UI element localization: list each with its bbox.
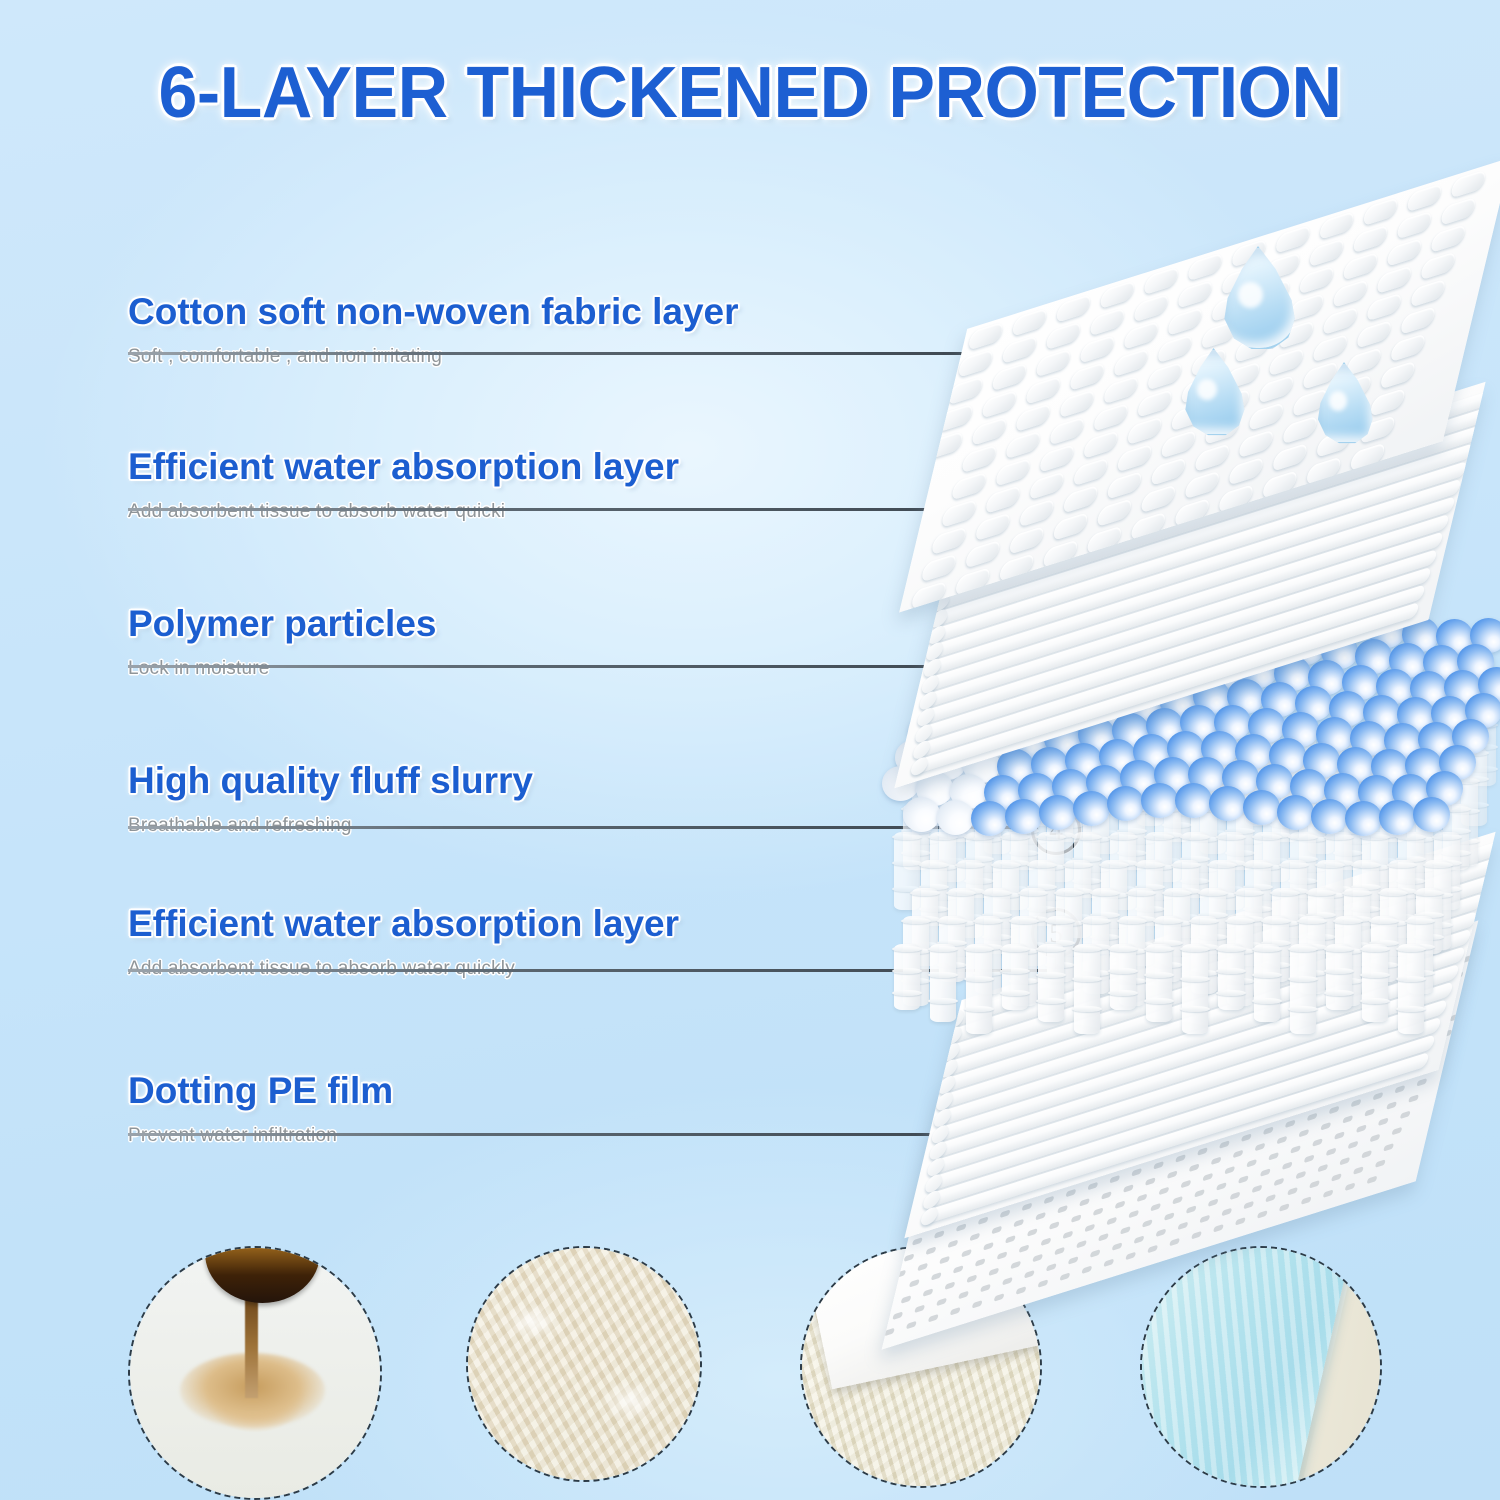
polymer-bead — [1141, 783, 1178, 818]
fluff-segment — [1288, 1006, 1318, 1012]
pe-film-dot — [1134, 1235, 1145, 1244]
polymer-bead — [903, 797, 940, 832]
pe-film-dot — [925, 1246, 936, 1255]
fluff-segment — [1252, 998, 1282, 1004]
infographic-page: 6-LAYER THICKENED PROTECTION Cotton soft… — [0, 0, 1500, 1500]
dimple — [1430, 224, 1467, 254]
pe-film-dot — [1383, 1143, 1394, 1152]
dimple — [1281, 415, 1318, 445]
layer-row-3: Polymer particles Lock in moisture — [128, 605, 436, 680]
fluff-segment — [901, 918, 931, 924]
dimple — [1238, 429, 1275, 459]
pe-film-dot — [1295, 1171, 1306, 1180]
pe-film-dot — [1016, 1286, 1027, 1295]
pe-film-dot — [1268, 1152, 1279, 1161]
pe-film-dot — [1197, 1147, 1208, 1156]
dimple — [1001, 335, 1038, 365]
polymer-bead — [1039, 795, 1076, 830]
pe-film-dot — [1142, 1219, 1153, 1228]
pe-film-dot — [1076, 1240, 1087, 1249]
pe-film-dot — [1103, 1259, 1114, 1268]
fluff-segment — [1180, 946, 1210, 952]
fluff-column — [1146, 944, 1172, 1022]
fluff-segment — [1144, 946, 1174, 952]
pe-film-dot — [1153, 1161, 1164, 1170]
pe-film-dot — [1002, 1277, 1013, 1286]
dimple — [957, 349, 994, 379]
pe-film-dot — [969, 1233, 980, 1242]
pe-film-dot — [953, 1265, 964, 1274]
pe-film-dot — [1208, 1198, 1219, 1207]
pe-film-dot — [944, 1281, 955, 1290]
pe-film-dot — [1084, 1224, 1095, 1233]
pe-film-dot — [1186, 1205, 1197, 1214]
pe-film-dot — [958, 1291, 969, 1300]
fluff-segment — [1117, 918, 1147, 924]
dimple — [927, 431, 964, 461]
dimple — [1352, 224, 1389, 254]
pe-film-dot — [956, 1223, 967, 1232]
dimple — [941, 499, 978, 529]
pe-film-dot — [1285, 1119, 1296, 1128]
dimple — [1150, 457, 1187, 487]
fluff-segment — [928, 946, 958, 952]
pe-film-dot — [1013, 1219, 1024, 1228]
polymer-bead — [1243, 790, 1280, 825]
layer-caption-2: Add absorbent tissue to absorb water qui… — [128, 501, 679, 523]
pe-film-dot — [1309, 1180, 1320, 1189]
dimple — [1379, 360, 1416, 390]
liquid-stream — [245, 1293, 258, 1398]
pe-film-dot — [1370, 1134, 1381, 1143]
dimple — [1106, 471, 1143, 501]
fluff-segment — [928, 972, 958, 978]
pe-film-dot — [1213, 1224, 1224, 1233]
pe-film-dot — [1040, 1237, 1051, 1246]
dimple — [1406, 183, 1443, 213]
pe-film-dot — [1054, 1247, 1065, 1256]
layer-heading-2: Efficient water absorption layer — [128, 448, 679, 487]
fluff-segment — [1333, 918, 1363, 924]
pe-film-dot — [1400, 1111, 1411, 1120]
pe-film-dot — [1257, 1210, 1268, 1219]
pe-film-dot — [1175, 1154, 1186, 1163]
fluff-segment — [1081, 918, 1111, 924]
pe-film-dot — [1046, 1263, 1057, 1272]
fluff-segment — [1396, 976, 1426, 982]
pe-film-dot — [909, 1279, 920, 1288]
pe-film-dot — [980, 1284, 991, 1293]
pe-film-dot — [997, 1251, 1008, 1260]
photo-1-image — [130, 1248, 380, 1498]
pe-film-dot — [1290, 1145, 1301, 1154]
fluff-segment — [1180, 1006, 1210, 1012]
fluff-column — [1254, 944, 1280, 1022]
pe-film-dot — [1263, 1126, 1274, 1135]
fluff-segment — [1324, 968, 1354, 974]
polymer-bead — [1209, 786, 1246, 821]
layer-row-1: Cotton soft non-woven fabric layer Soft … — [128, 293, 739, 368]
pe-film-dot — [1189, 1163, 1200, 1172]
pe-film-dot — [1351, 1099, 1362, 1108]
dimple — [995, 458, 1032, 488]
dimple — [1038, 444, 1075, 474]
photo-liquid-absorption — [128, 1246, 382, 1500]
pe-film-dot — [1098, 1233, 1109, 1242]
pe-film-dot — [1378, 1117, 1389, 1126]
dimple — [1025, 376, 1062, 406]
fluff-segment — [1108, 946, 1138, 952]
pe-film-dot — [1093, 1207, 1104, 1216]
fluff-column — [894, 944, 920, 1010]
dimple — [1156, 334, 1193, 364]
fluff-column — [1182, 944, 1208, 1034]
pe-film-dot — [1339, 1157, 1350, 1166]
pe-film-dot — [1356, 1124, 1367, 1133]
fluff-column — [1110, 944, 1136, 1010]
dimple — [1069, 362, 1106, 392]
dimple — [1052, 512, 1089, 542]
dimple — [920, 553, 957, 583]
pe-film-dot — [1180, 1180, 1191, 1189]
pe-film-dot — [1373, 1092, 1384, 1101]
pe-film-dot — [983, 1242, 994, 1251]
pe-film-dot — [975, 1258, 986, 1267]
pe-film-dot — [950, 1307, 961, 1316]
fluff-segment — [1369, 918, 1399, 924]
fluff-segment — [1036, 998, 1066, 1004]
dimple — [1072, 457, 1109, 487]
polymer-bead — [1311, 799, 1348, 834]
fluff-segment — [964, 946, 994, 952]
fluff-segment — [1261, 918, 1291, 924]
dimple — [1248, 402, 1285, 432]
dimple — [1258, 375, 1295, 405]
dimple — [1396, 210, 1433, 240]
pe-film-dot — [1255, 1143, 1266, 1152]
pe-film-dot — [1027, 1228, 1038, 1237]
fluff-segment — [1216, 946, 1246, 952]
fluff-segment — [1144, 998, 1174, 1004]
pe-film-dot — [1035, 1212, 1046, 1221]
dimple — [1332, 279, 1369, 309]
dimple — [974, 512, 1011, 542]
polymer-bead — [1005, 799, 1042, 834]
page-title: 6-LAYER THICKENED PROTECTION — [23, 52, 1478, 134]
dimple — [1342, 252, 1379, 282]
polymer-bead — [1379, 800, 1416, 835]
pe-film-dot — [1276, 1136, 1287, 1145]
pe-film-dot — [988, 1267, 999, 1276]
dimple — [1096, 498, 1133, 528]
fluff-segment — [892, 968, 922, 974]
pe-film-dot — [1317, 1164, 1328, 1173]
fluff-segment — [1288, 946, 1318, 952]
dimple — [1055, 294, 1092, 324]
pe-film-dot — [1005, 1235, 1016, 1244]
fluff-segment — [1036, 946, 1066, 952]
pe-film-dot — [1233, 1150, 1244, 1159]
pe-film-dot — [1416, 1078, 1427, 1087]
dimple — [981, 389, 1018, 419]
dimple — [1369, 388, 1406, 418]
exploded-layer-illustration — [860, 230, 1500, 1230]
layer-heading-4: High quality fluff slurry — [128, 762, 533, 801]
dimple — [1126, 416, 1163, 446]
dimple — [951, 471, 988, 501]
fluff-segment — [892, 990, 922, 996]
pe-film-dot — [1364, 1108, 1375, 1117]
layer-row-2: Efficient water absorption layer Add abs… — [128, 448, 679, 523]
pe-film-dot — [1038, 1279, 1049, 1288]
fluff-segment — [964, 1006, 994, 1012]
polymer-bead — [1413, 797, 1450, 832]
pe-film-dot — [912, 1237, 923, 1246]
dimple — [1059, 389, 1096, 419]
dimple — [1166, 307, 1203, 337]
pe-film-dot — [1128, 1210, 1139, 1219]
pe-film-dot — [1334, 1131, 1345, 1140]
pe-film-dot — [1246, 1159, 1257, 1168]
pe-film-dot — [961, 1249, 972, 1258]
dimple — [1028, 471, 1065, 501]
fluff-column — [1362, 944, 1388, 1022]
dimple — [1318, 211, 1355, 241]
fluff-segment — [937, 918, 967, 924]
pe-film-dot — [1057, 1205, 1068, 1214]
pe-film-dot — [1169, 1238, 1180, 1247]
dimple — [1194, 443, 1231, 473]
pe-film-dot — [1265, 1194, 1276, 1203]
pe-film-dot — [1348, 1141, 1359, 1150]
pe-film-dot — [1115, 1200, 1126, 1209]
dimple — [1187, 252, 1224, 282]
pe-film-dot — [892, 1311, 903, 1320]
dimple — [984, 485, 1021, 515]
dimple — [947, 376, 984, 406]
layer-heading-3: Polymer particles — [128, 605, 436, 644]
pe-film-dot — [1298, 1129, 1309, 1138]
pe-film-dot — [1260, 1168, 1271, 1177]
pe-film-dot — [1331, 1173, 1342, 1182]
pe-film-dot — [1230, 1191, 1241, 1200]
dimple — [1048, 416, 1085, 446]
pe-film-dot — [1194, 1189, 1205, 1198]
fluff-segment — [1252, 972, 1282, 978]
pe-film-dot — [1367, 1176, 1378, 1185]
fluff-segment — [1360, 946, 1390, 952]
polymer-bead — [1107, 786, 1144, 821]
pe-film-dot — [906, 1321, 917, 1330]
pe-film-dot — [1150, 1203, 1161, 1212]
dimple — [1015, 403, 1052, 433]
pe-film-dot — [1000, 1209, 1011, 1218]
fluff-segment — [1360, 972, 1390, 978]
dimple — [971, 417, 1008, 447]
pe-film-dot — [1087, 1182, 1098, 1191]
fluff-segment — [1297, 918, 1327, 924]
dimple — [930, 526, 967, 556]
dimple — [1227, 456, 1264, 486]
dimple — [1035, 348, 1072, 378]
pe-film-dot — [1079, 1198, 1090, 1207]
dimple — [1322, 306, 1359, 336]
pe-film-dot — [1312, 1138, 1323, 1147]
fluff-column — [1038, 944, 1064, 1022]
dimple — [964, 539, 1001, 569]
fluff-segment — [1216, 990, 1246, 996]
pe-film-dot — [917, 1263, 928, 1272]
pe-film-dot — [1071, 1214, 1082, 1223]
pe-film-dot — [1177, 1222, 1188, 1231]
fluff-segment — [1000, 990, 1030, 996]
dimple — [1376, 265, 1413, 295]
photo-4-image — [1142, 1248, 1380, 1486]
pe-film-dot — [1241, 1133, 1252, 1142]
pe-film-dot — [1019, 1244, 1030, 1253]
pe-film-dot — [1090, 1249, 1101, 1258]
fluff-segment — [1288, 976, 1318, 982]
pe-film-dot — [884, 1328, 895, 1337]
fluff-column — [1290, 944, 1316, 1034]
fluff-column — [1002, 944, 1028, 1010]
pe-film-dot — [1010, 1261, 1021, 1270]
pe-film-dot — [1320, 1122, 1331, 1131]
fluff-segment — [1189, 918, 1219, 924]
pe-film-dot — [1216, 1182, 1227, 1191]
pe-film-dot — [1172, 1196, 1183, 1205]
dimple — [1082, 430, 1119, 460]
pe-film-dot — [1024, 1270, 1035, 1279]
pe-film-dot — [1081, 1265, 1092, 1274]
dimple — [1399, 306, 1436, 336]
fluff-segment — [1009, 918, 1039, 924]
dimple — [1008, 526, 1045, 556]
pe-film-dot — [1101, 1191, 1112, 1200]
pe-film-dot — [934, 1230, 945, 1239]
photo-fluff-pulp-texture — [466, 1246, 702, 1482]
pe-film-dot — [1375, 1159, 1386, 1168]
pe-film-dot — [931, 1272, 942, 1281]
dimple — [1440, 197, 1477, 227]
fluff-column — [1326, 944, 1352, 1010]
pe-film-dot — [1199, 1215, 1210, 1224]
fluff-segment — [1180, 976, 1210, 982]
fluff-segment — [1000, 968, 1030, 974]
fluff-segment — [1072, 946, 1102, 952]
dimple — [1140, 484, 1177, 514]
pe-film-dot — [1059, 1272, 1070, 1281]
dimple — [1116, 443, 1153, 473]
layer-heading-5: Efficient water absorption layer — [128, 905, 679, 944]
pe-film-dot — [1235, 1217, 1246, 1226]
fluff-column — [1074, 944, 1100, 1034]
fluff-segment — [1036, 972, 1066, 978]
fluff-segment — [1045, 918, 1075, 924]
dimple — [937, 403, 974, 433]
pe-film-dot — [1279, 1203, 1290, 1212]
dimple — [1298, 265, 1335, 295]
polymer-bead — [937, 800, 974, 835]
pe-film-dot — [1109, 1175, 1120, 1184]
pe-film-dot — [1224, 1166, 1235, 1175]
pe-film-dot — [1304, 1154, 1315, 1163]
layer-heading-6: Dotting PE film — [128, 1072, 393, 1111]
dimple — [1184, 470, 1221, 500]
dimple — [1366, 292, 1403, 322]
pe-film-dot — [1131, 1168, 1142, 1177]
fluff-segment — [973, 918, 1003, 924]
fluff-segment — [1108, 968, 1138, 974]
pe-film-dot — [1068, 1256, 1079, 1265]
polymer-bead — [1175, 783, 1212, 818]
dimple — [961, 444, 998, 474]
pe-film-dot — [1032, 1254, 1043, 1263]
pe-film-dot — [1164, 1212, 1175, 1221]
dimple — [1362, 197, 1399, 227]
fluff-segment — [1072, 976, 1102, 982]
dimple — [1268, 347, 1305, 377]
fluff-segment — [1324, 990, 1354, 996]
dimple — [1146, 361, 1183, 391]
fluff-segment — [1324, 946, 1354, 952]
pe-film-dot — [1137, 1193, 1148, 1202]
pe-film-dot — [1120, 1226, 1131, 1235]
pe-film-dot — [1307, 1113, 1318, 1122]
dimple — [1308, 238, 1345, 268]
polymer-bead — [1277, 795, 1314, 830]
dimple — [1271, 443, 1308, 473]
dimple — [1177, 280, 1214, 310]
pe-film-dot — [1287, 1187, 1298, 1196]
pe-film-dot — [1273, 1178, 1284, 1187]
pe-film-dot — [1386, 1101, 1397, 1110]
layer-heading-1: Cotton soft non-woven fabric layer — [128, 293, 739, 332]
pe-film-dot — [914, 1304, 925, 1313]
photo-2-image — [468, 1248, 700, 1480]
pe-film-dot — [936, 1298, 947, 1307]
pe-film-dot — [1301, 1196, 1312, 1205]
pe-film-dot — [1394, 1085, 1405, 1094]
pe-film-dot — [1211, 1156, 1222, 1165]
dimple — [1133, 293, 1170, 323]
pe-film-dot — [966, 1274, 977, 1283]
pe-film-dot — [1191, 1231, 1202, 1240]
fluff-segment — [1072, 1006, 1102, 1012]
pe-film-dot — [1329, 1106, 1340, 1115]
fluff-column — [930, 944, 956, 1022]
pe-film-dot — [1342, 1115, 1353, 1124]
layer-caption-1: Soft , comfortable , and non irritating — [128, 346, 739, 368]
fluff-segment — [1360, 998, 1390, 1004]
pe-film-dot — [1238, 1175, 1249, 1184]
pe-film-dot — [1282, 1161, 1293, 1170]
pe-film-dot — [901, 1295, 912, 1304]
pe-film-dot — [991, 1226, 1002, 1235]
pe-film-dot — [1243, 1201, 1254, 1210]
pe-film-dot — [1219, 1140, 1230, 1149]
pe-film-dot — [1123, 1184, 1134, 1193]
dimple — [1420, 251, 1457, 281]
pe-film-dot — [928, 1314, 939, 1323]
pe-film-dot — [1391, 1127, 1402, 1136]
pe-film-dot — [1112, 1242, 1123, 1251]
photo-blue-pe-film — [1140, 1246, 1382, 1488]
layer-caption-3: Lock in moisture — [128, 658, 436, 680]
pe-film-dot — [904, 1253, 915, 1262]
fluff-segment — [928, 998, 958, 1004]
pe-film-dot — [1167, 1170, 1178, 1179]
